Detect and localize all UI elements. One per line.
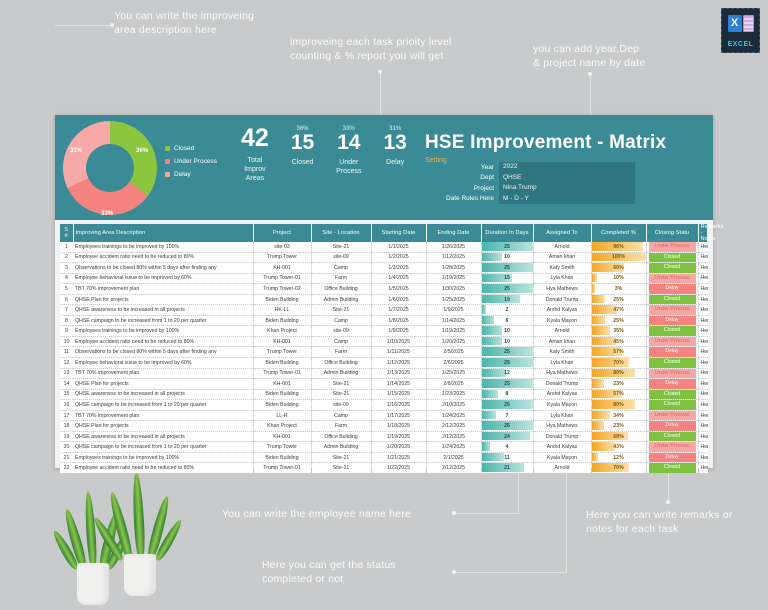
cell-closing-status: Delay (646, 284, 698, 295)
cell-end-date: 1/9/2025 (426, 305, 481, 316)
cell-description: Employees trainings to be improved by 10… (73, 242, 253, 252)
cell-completed: 100% (591, 252, 646, 263)
cell-end-date: 2/10/2025 (426, 400, 481, 411)
kpi-total-improv-areas: 42 Total Improv Areas (230, 125, 280, 183)
table-row[interactable]: 13TBT 70% improvement planTrump Tower-01… (60, 368, 708, 379)
cell-assigned-to: Donald Trump (533, 294, 591, 305)
cell-start-date: 1/14/2025 (371, 379, 426, 390)
cell-sn: 9 (60, 326, 73, 337)
cell-assigned-to: Lyla Khan (533, 273, 591, 284)
col-remarks[interactable]: Remarks - Notes (698, 224, 708, 242)
table-row[interactable]: 7QHSE awareness to be increased in all p… (60, 305, 708, 316)
cell-closing-status: Under Process (646, 410, 698, 421)
plant-pot (124, 554, 156, 596)
excel-icon-group: X (728, 15, 754, 32)
cell-end-date: 1/20/2025 (426, 336, 481, 347)
cell-remarks: Here you can add your notes etc (698, 315, 708, 326)
setting-row-dept: Dept QHSE (425, 173, 635, 184)
cell-end-date: 1/14/2025 (426, 315, 481, 326)
cell-assigned-to: Arnold (533, 463, 591, 474)
cell-project: KH-001 (253, 336, 311, 347)
cell-description: QHSE Plan for projects (73, 294, 253, 305)
cell-closing-status: Closed (646, 389, 698, 400)
cell-description: Employee accident ratio need to be reduc… (73, 252, 253, 263)
page-title: HSE Improvement - Matrix (425, 132, 666, 154)
cell-end-date: 1/24/2025 (426, 442, 481, 453)
table-row[interactable]: 18QHSE Plan for projectsKhan ProjectFarm… (60, 421, 708, 432)
cell-closing-status: Closed (646, 400, 698, 411)
cell-project: Trump Tower-01 (253, 463, 311, 474)
table-row[interactable]: 20QHSE campaign to be increased from 1 t… (60, 442, 708, 453)
setting-row-date-rules: Date Rules Here M - D - Y (425, 194, 635, 205)
cell-assigned-to: Aman khan (533, 252, 591, 263)
cell-closing-status: Under Process (646, 242, 698, 252)
setting-row-project: Project Nina Trump (425, 183, 635, 194)
cell-description: Observations to be closed 80% within 5 d… (73, 347, 253, 358)
table-row[interactable]: 14QHSE Plan for projectsKH-001Site-211/1… (60, 379, 708, 390)
cell-closing-status: Delay (646, 347, 698, 358)
cell-remarks: Here you can add your remarks (698, 431, 708, 442)
cell-closing-status: Closed (646, 263, 698, 274)
cell-assigned-to: Hya Mathews (533, 284, 591, 295)
cell-sn: 17 (60, 410, 73, 421)
cell-assigned-to: Kyala Mayon (533, 400, 591, 411)
cell-site: Farm (311, 273, 371, 284)
setting-value-project[interactable]: Nina Trump (499, 183, 635, 194)
setting-value-date-rules[interactable]: M - D - Y (499, 194, 635, 205)
cell-site: site-09 (311, 252, 371, 263)
cell-remarks: Here you can add your remarks (698, 305, 708, 316)
cell-start-date: 1/1/2025 (371, 242, 426, 252)
cell-remarks: Here you can add your remarks (698, 263, 708, 274)
cell-duration: 25 (481, 284, 533, 295)
cell-completed: 45% (591, 336, 646, 347)
cell-closing-status: Delay (646, 452, 698, 463)
cell-project: KH-001 (253, 263, 311, 274)
cell-duration: 6 (481, 315, 533, 326)
cell-start-date: 1/6/2025 (371, 294, 426, 305)
cell-completed: 34% (591, 410, 646, 421)
cell-completed: 68% (591, 431, 646, 442)
cell-start-date: 1/7/2025 (371, 305, 426, 316)
status-badge: Closed (649, 390, 696, 400)
cell-duration: 25 (481, 263, 533, 274)
cell-remarks: Here you can add your remarks (698, 347, 708, 358)
status-badge: Closed (649, 432, 696, 442)
kpi-caption: Under Process (336, 158, 361, 176)
status-badge: Delay (649, 379, 696, 389)
excel-logo-text: EXCEL (728, 41, 754, 48)
status-badge: Closed (649, 295, 696, 305)
cell-duration: 21 (481, 463, 533, 474)
status-badge: Closed (649, 326, 696, 336)
table-header: S # Improving Area Description Project S… (60, 224, 708, 242)
table-row[interactable]: 19QHSE awareness to be increased in all … (60, 431, 708, 442)
cell-description: QHSE awareness to be increased in all pr… (73, 305, 253, 316)
col-completed[interactable]: Completed % (591, 224, 646, 242)
cell-closing-status: Closed (646, 294, 698, 305)
cell-completed: 80% (591, 368, 646, 379)
table-row[interactable]: 8QHSE campaign to be increased from 1 to… (60, 315, 708, 326)
cell-sn: 4 (60, 273, 73, 284)
col-assigned-to[interactable]: Assigned To (533, 224, 591, 242)
cell-sn: 6 (60, 294, 73, 305)
table-row[interactable]: 3Observations to be closed 80% within 5 … (60, 263, 708, 274)
cell-sn: 16 (60, 400, 73, 411)
cell-closing-status: Under Process (646, 368, 698, 379)
cell-start-date: 1/19/2025 (371, 431, 426, 442)
cell-site: Camp (311, 315, 371, 326)
cell-remarks: Here you can add your notes etc (698, 273, 708, 284)
cell-assigned-to: Katy Smith (533, 347, 591, 358)
status-badge: Delay (649, 421, 696, 431)
cell-sn: 22 (60, 463, 73, 474)
cell-start-date: 1/11/2025 (371, 347, 426, 358)
cell-sn: 18 (60, 421, 73, 432)
cell-sn: 5 (60, 284, 73, 295)
status-badge: Delay (649, 347, 696, 357)
spreadsheet-icon (743, 15, 754, 32)
cell-project: KH-001 (253, 379, 311, 390)
cell-project: Biden Building (253, 294, 311, 305)
cell-site: site-09 (311, 400, 371, 411)
setting-row-year: Year 2022 (425, 162, 635, 173)
kpi-closed: 36% 15 Closed (280, 125, 325, 183)
cell-completed: 60% (591, 263, 646, 274)
cell-closing-status: Delay (646, 379, 698, 390)
status-badge: Closed (649, 263, 696, 273)
improvement-matrix-table: S # Improving Area Description Project S… (60, 224, 708, 474)
table-row[interactable]: 10Employee accident ratio need to be red… (60, 336, 708, 347)
cell-remarks: Here you can add your remarks (698, 284, 708, 295)
cell-description: Employee accident ratio need to be reduc… (73, 336, 253, 347)
cell-end-date: 1/30/2025 (426, 284, 481, 295)
matrix-table-wrapper: S # Improving Area Description Project S… (55, 220, 713, 479)
col-end-date[interactable]: Ending Date (426, 224, 481, 242)
cell-description: TBT 70% improvement plan (73, 410, 253, 421)
donut-label-delay: 31% (70, 148, 82, 154)
cell-assigned-to: Hya Mathews (533, 421, 591, 432)
kpi-number: 13 (383, 132, 406, 153)
excel-x-icon: X (728, 15, 742, 32)
cell-assigned-to: Kyala Mayon (533, 315, 591, 326)
cell-completed: 12% (591, 452, 646, 463)
cell-end-date: 1/24/2025 (426, 410, 481, 421)
cell-assigned-to: Kyala Mayon (533, 452, 591, 463)
cell-completed: 57% (591, 347, 646, 358)
cell-start-date: 1/3/2025 (371, 263, 426, 274)
cell-site: Camp (311, 263, 371, 274)
leader-dot-employee (452, 511, 456, 515)
col-duration[interactable]: Duration In Days (481, 224, 533, 242)
cell-description: Employees trainings to be improved by 10… (73, 326, 253, 337)
leader-dot-status (452, 570, 456, 574)
cell-description: QHSE awareness to be increased in all pr… (73, 389, 253, 400)
table-row[interactable]: 2Employee accident ratio need to be redu… (60, 252, 708, 263)
kpi-group: 42 Total Improv Areas 36% 15 Closed 33% … (230, 125, 418, 183)
leader-line-status-v (566, 468, 567, 573)
cell-remarks: Here you can add your notes etc (698, 379, 708, 390)
cell-sn: 7 (60, 305, 73, 316)
cell-site: Admin Building (311, 442, 371, 453)
cell-completed: 23% (591, 421, 646, 432)
legend-swatch-closed (165, 146, 170, 151)
cell-start-date: 1/5/2025 (371, 284, 426, 295)
table-row[interactable]: 16QHSE campaign to be increased from 1 t… (60, 400, 708, 411)
cell-site: Site-21 (311, 452, 371, 463)
status-badge: Under Process (649, 411, 696, 421)
cell-duration: 10 (481, 252, 533, 263)
cell-project: HK-LL (253, 305, 311, 316)
cell-completed: 47% (591, 305, 646, 316)
cell-duration: 24 (481, 431, 533, 442)
cell-closing-status: Delay (646, 315, 698, 326)
annotation-description: You can write the improveing area descri… (114, 9, 254, 37)
cell-description: Observations to be closed 80% within 5 d… (73, 263, 253, 274)
cell-description: TBT 70% improvement plan (73, 284, 253, 295)
cell-assigned-to: Arshd Kalyas (533, 442, 591, 453)
cell-site: Office Building (311, 284, 371, 295)
setting-key: Date Rules Here (425, 195, 499, 202)
donut-label-closed: 36% (136, 148, 148, 154)
header-right-section: HSE Improvement - Matrix Setting Year 20… (405, 115, 713, 220)
leader-dot-remarks (666, 500, 670, 504)
cell-assigned-to: Arshd Kalyas (533, 389, 591, 400)
settings-panel: Year 2022 Dept QHSE Project Nina Trump D… (425, 162, 635, 204)
plant-pot (77, 563, 109, 605)
legend-swatch-delay (165, 172, 170, 177)
status-badge: Delay (649, 316, 696, 326)
cell-sn: 20 (60, 442, 73, 453)
kpi-under-process: 33% 14 Under Process (325, 125, 372, 183)
cell-project: LL-R (253, 410, 311, 421)
cell-assigned-to: Katy Smith (533, 263, 591, 274)
cell-project: Trump Tower (253, 252, 311, 263)
cell-sn: 12 (60, 358, 73, 369)
table-header-row: S # Improving Area Description Project S… (60, 224, 708, 242)
col-project[interactable]: Project (253, 224, 311, 242)
cell-site: Site-21 (311, 379, 371, 390)
dashboard-header: 36% 33% 31% Closed Under Process Delay (55, 115, 713, 220)
cell-project: Biden Building (253, 389, 311, 400)
cell-project: Trump Tower-01 (253, 368, 311, 379)
table-row[interactable]: 17TBT 70% improvement planLL-RCamp1/17/2… (60, 410, 708, 421)
col-sn[interactable]: S # (60, 224, 73, 242)
table-row[interactable]: 5TBT 70% improvement planTrump Tower-02O… (60, 284, 708, 295)
setting-key: Year (425, 164, 499, 171)
status-badge: Under Process (649, 305, 696, 315)
kpi-caption: Delay (383, 158, 406, 167)
cell-description: QHSE Plan for projects (73, 421, 253, 432)
table-row[interactable]: 1Employees trainings to be improved by 1… (60, 242, 708, 252)
table-row[interactable]: 11Observations to be closed 80% within 5… (60, 347, 708, 358)
cell-closing-status: Under Process (646, 273, 698, 284)
table-row[interactable]: 9Employees trainings to be improved by 1… (60, 326, 708, 337)
cell-project: Biden Building (253, 400, 311, 411)
cell-completed: 70% (591, 463, 646, 474)
cell-remarks: Here you can add your remarks (698, 326, 708, 337)
table-row[interactable]: 15QHSE awareness to be increased in all … (60, 389, 708, 400)
legend-label-under-process: Under Process (174, 158, 217, 165)
cell-description: Employees trainings to be improved by 10… (73, 452, 253, 463)
cell-remarks: Here you can add your notes etc (698, 252, 708, 263)
kpi-number: 42 (241, 126, 269, 151)
cell-remarks: Here you can add your remarks (698, 389, 708, 400)
table-row[interactable]: 6QHSE Plan for projectsBiden BuildingAdm… (60, 294, 708, 305)
leader-line-description (55, 25, 113, 26)
header-left-section: 36% 33% 31% Closed Under Process Delay (55, 115, 405, 220)
kpi-caption: Closed (291, 158, 314, 167)
donut-label-under: 33% (101, 211, 113, 217)
cell-completed: 25% (591, 315, 646, 326)
cell-start-date: 1/22/2025 (371, 463, 426, 474)
cell-remarks: Here you can add your notes etc (698, 442, 708, 453)
cell-end-date: 1/12/2025 (426, 252, 481, 263)
cell-duration: 19 (481, 294, 533, 305)
status-badge: Under Process (649, 369, 696, 379)
leader-line-setting (590, 74, 591, 116)
leader-line-priority (380, 72, 381, 117)
annotation-setting: you can add year,Dep & project name by d… (533, 42, 645, 70)
cell-completed: 3% (591, 284, 646, 295)
cell-site: Camp (311, 336, 371, 347)
col-closing-status[interactable]: Closing Statu (646, 224, 698, 242)
cell-sn: 3 (60, 263, 73, 274)
legend-item-delay: Delay (165, 171, 217, 178)
kpi-caption: Total Improv Areas (241, 156, 269, 183)
cell-duration: 2 (481, 305, 533, 316)
cell-closing-status: Under Process (646, 305, 698, 316)
cell-remarks: Here you can add your notes etc (698, 421, 708, 432)
cell-site: Farm (311, 347, 371, 358)
cell-remarks: Here you can add your notes etc (698, 358, 708, 369)
cell-remarks: Here you can add your notes etc (698, 294, 708, 305)
setting-value-year[interactable]: 2022 (499, 162, 635, 173)
table-row[interactable]: 21Employees trainings to be improved by … (60, 452, 708, 463)
cell-assigned-to: Arnold (533, 242, 591, 252)
cell-end-date: 2/12/2025 (426, 421, 481, 432)
leaf (84, 491, 98, 569)
leader-dot-setting (588, 72, 592, 76)
cell-duration: 15 (481, 273, 533, 284)
kpi-number: 14 (336, 132, 361, 153)
cell-duration: 10 (481, 336, 533, 347)
cell-closing-status: Closed (646, 252, 698, 263)
legend-item-under-process: Under Process (165, 158, 217, 165)
cell-completed: 10% (591, 273, 646, 284)
cell-description: QHSE campaign to be increased from 1 to … (73, 400, 253, 411)
status-badge: Closed (649, 400, 696, 410)
cell-project: Trump Tower-02 (253, 284, 311, 295)
cell-sn: 19 (60, 431, 73, 442)
cell-completed: 43% (591, 442, 646, 453)
cell-site: Admin Building (311, 294, 371, 305)
cell-sn: 8 (60, 315, 73, 326)
cell-remarks: Here you can add your remarks (698, 368, 708, 379)
cell-completed: 70% (591, 358, 646, 369)
cell-assigned-to: Hya Mathews (533, 368, 591, 379)
col-description[interactable]: Improving Area Description (73, 224, 253, 242)
cell-start-date: 1/15/2025 (371, 389, 426, 400)
cell-start-date: 1/12/2025 (371, 358, 426, 369)
setting-key: Project (425, 185, 499, 192)
cell-closing-status: Delay (646, 421, 698, 432)
cell-duration: 8 (481, 389, 533, 400)
cell-start-date: 1/2/2025 (371, 252, 426, 263)
cell-duration: 25 (481, 400, 533, 411)
leader-line-status-h (456, 572, 566, 573)
cell-closing-status: Closed (646, 431, 698, 442)
cell-remarks: Here you can add your notes etc (698, 400, 708, 411)
cell-site: Site-21 (311, 463, 371, 474)
cell-remarks: Here you can add your notes etc (698, 336, 708, 347)
table-row[interactable]: 22Employee accident ratio need to be red… (60, 463, 708, 474)
cell-end-date: 1/23/2025 (426, 389, 481, 400)
table-row[interactable]: 12Employee behavioral issue to be improv… (60, 358, 708, 369)
annotation-employee: You can write the employee name here (222, 507, 411, 521)
cell-completed: 96% (591, 242, 646, 252)
setting-value-dept[interactable]: QHSE (499, 173, 635, 184)
col-start-date[interactable]: Starting Date (371, 224, 426, 242)
cell-start-date: 1/10/2025 (371, 336, 426, 347)
cell-duration: 7 (481, 410, 533, 421)
cell-closing-status: Closed (646, 326, 698, 337)
legend-label-delay: Delay (174, 171, 191, 178)
cell-end-date: 1/26/2025 (426, 242, 481, 252)
cell-start-date: 1/9/2025 (371, 326, 426, 337)
cell-description: QHSE awareness to be increased in all pr… (73, 431, 253, 442)
cell-project: Trump Tower (253, 442, 311, 453)
cell-start-date: 1/20/2025 (371, 442, 426, 453)
table-row[interactable]: 4Employee behavioral issue to be improve… (60, 273, 708, 284)
cell-assigned-to: Arnold (533, 326, 591, 337)
cell-start-date: 1/17/2025 (371, 410, 426, 421)
cell-start-date: 1/21/2025 (371, 452, 426, 463)
cell-site: Site-21 (311, 242, 371, 252)
cell-completed: 25% (591, 294, 646, 305)
cell-end-date: 1/19/2025 (426, 273, 481, 284)
cell-site: Office Building (311, 431, 371, 442)
cell-closing-status: Under Process (646, 442, 698, 453)
cell-sn: 10 (60, 336, 73, 347)
cell-description: QHSE Plan for projects (73, 379, 253, 390)
setting-key: Dept (425, 174, 499, 181)
cell-duration: 10 (481, 326, 533, 337)
cell-site: Site-21 (311, 389, 371, 400)
cell-assigned-to: Aman khan (533, 336, 591, 347)
annotation-remarks: Here you can write remarks or notes for … (586, 508, 732, 536)
cell-project: site-03 (253, 242, 311, 252)
col-site[interactable]: Site - Location (311, 224, 371, 242)
cell-start-date: 1/18/2025 (371, 421, 426, 432)
cell-description: Employee behavioral issue to be improved… (73, 273, 253, 284)
cell-duration: 4 (481, 442, 533, 453)
cell-site: Office Building (311, 358, 371, 369)
cell-completed: 57% (591, 389, 646, 400)
status-badge: Delay (649, 284, 696, 294)
cell-end-date: 2/6/2025 (426, 358, 481, 369)
cell-start-date: 1/16/2025 (371, 400, 426, 411)
dashboard-panel: 36% 33% 31% Closed Under Process Delay (55, 115, 713, 468)
cell-project: Trump Tower-01 (253, 273, 311, 284)
cell-assigned-to: Lyla Khan (533, 410, 591, 421)
cell-remarks: Here you can add your remarks (698, 410, 708, 421)
cell-site: site-09 (311, 326, 371, 337)
cell-project: Biden Building (253, 358, 311, 369)
cell-duration: 25 (481, 242, 533, 252)
cell-closing-status: Closed (646, 463, 698, 474)
status-badge: Under Process (649, 274, 696, 284)
